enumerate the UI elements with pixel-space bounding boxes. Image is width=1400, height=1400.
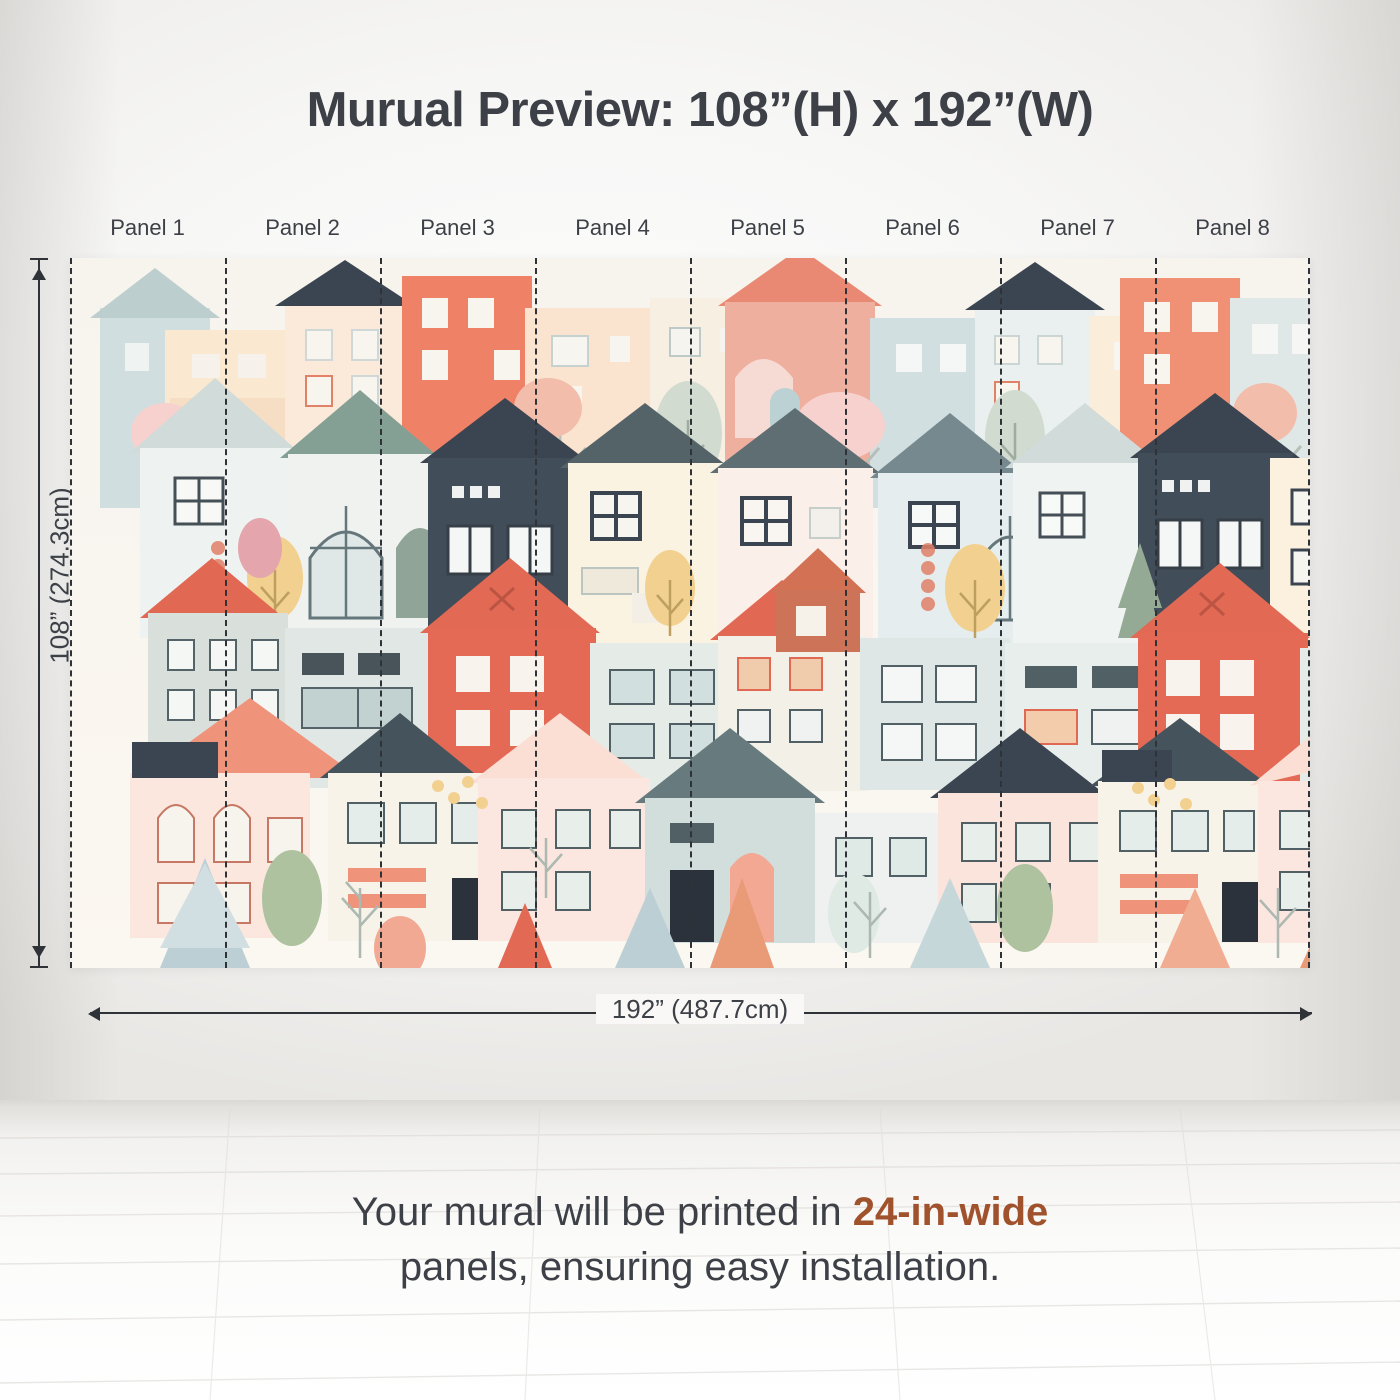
page-title: Murual Preview: 108”(H) x 192”(W) <box>0 82 1400 138</box>
panel-label-7: Panel 7 <box>1000 215 1155 241</box>
footer-line-1: Your mural will be printed in 24-in-wide <box>0 1185 1400 1240</box>
panel-divider-2 <box>380 258 382 968</box>
height-arrow-down <box>32 946 46 958</box>
height-dimension-line <box>38 258 40 968</box>
panel-label-6: Panel 6 <box>845 215 1000 241</box>
width-label: 192” (487.7cm) <box>0 994 1400 1025</box>
panel-divider-1 <box>225 258 227 968</box>
mural-preview-scene: Murual Preview: 108”(H) x 192”(W) 108” (… <box>0 0 1400 1400</box>
width-label-text: 192” (487.7cm) <box>596 994 804 1024</box>
panel-label-2: Panel 2 <box>225 215 380 241</box>
panel-edge-left <box>70 258 72 968</box>
panel-divider-3 <box>535 258 537 968</box>
panel-divider-6 <box>1000 258 1002 968</box>
panel-label-8: Panel 8 <box>1155 215 1310 241</box>
height-dimension-cap-bottom <box>30 966 48 968</box>
footer-line-1-before: Your mural will be printed in <box>352 1190 853 1234</box>
panel-edge-right <box>1308 258 1310 968</box>
height-arrow-up <box>32 268 46 280</box>
panel-label-1: Panel 1 <box>70 215 225 241</box>
panel-divider-7 <box>1155 258 1157 968</box>
mural-preview-area[interactable] <box>70 258 1310 968</box>
panel-divider-5 <box>845 258 847 968</box>
footer-highlight: 24-in-wide <box>853 1190 1049 1234</box>
panel-divider-4 <box>690 258 692 968</box>
panel-label-5: Panel 5 <box>690 215 845 241</box>
footer-message: Your mural will be printed in 24-in-wide… <box>0 1185 1400 1295</box>
height-dimension-cap-top <box>30 258 48 260</box>
panel-label-3: Panel 3 <box>380 215 535 241</box>
panel-label-4: Panel 4 <box>535 215 690 241</box>
footer-line-2: panels, ensuring easy installation. <box>0 1240 1400 1295</box>
